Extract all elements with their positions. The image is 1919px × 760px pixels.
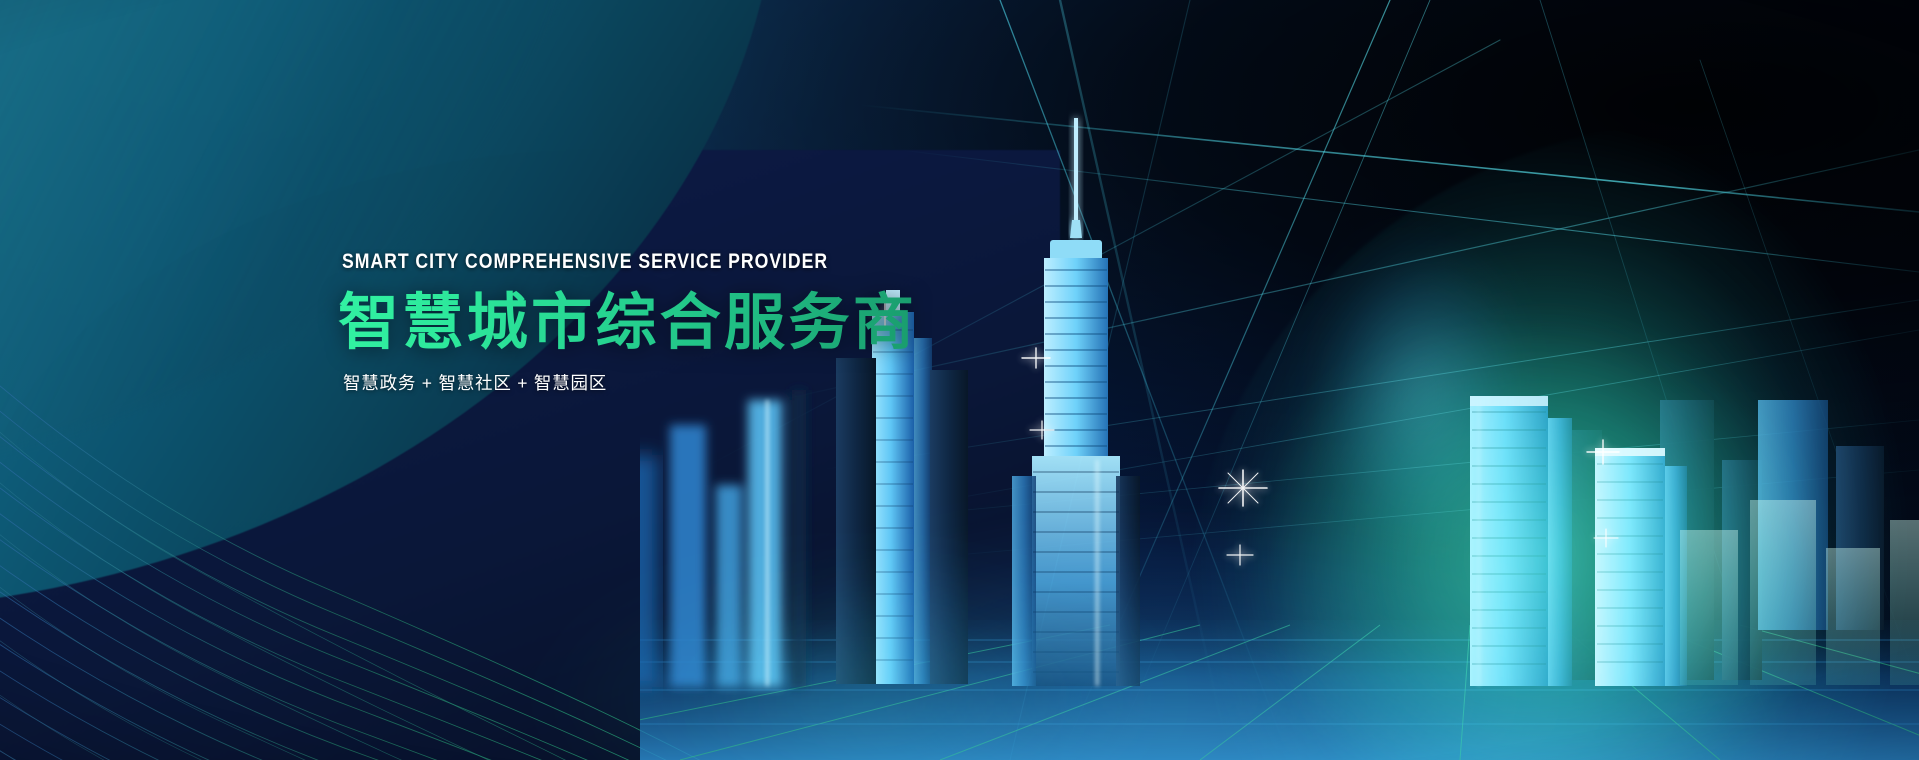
banner-subline: 智慧政务 + 智慧社区 + 智慧园区 bbox=[343, 370, 1102, 395]
banner-copy-block: SMART CITY COMPREHENSIVE SERVICE PROVIDE… bbox=[342, 250, 1102, 395]
banner-eyebrow: SMART CITY COMPREHENSIVE SERVICE PROVIDE… bbox=[342, 250, 980, 274]
smart-city-banner: SMART CITY COMPREHENSIVE SERVICE PROVIDE… bbox=[0, 0, 1919, 760]
banner-headline: 智慧城市综合服务商 bbox=[338, 288, 1102, 356]
green-floor-glow bbox=[480, 520, 1240, 760]
